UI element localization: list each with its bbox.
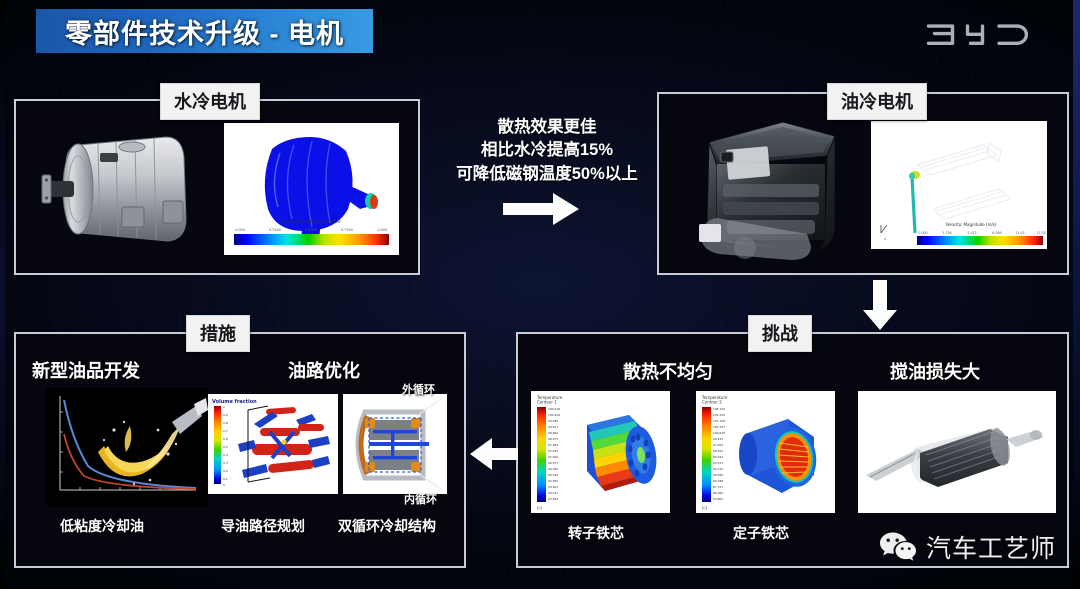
arrow-right-icon xyxy=(503,192,579,226)
svg-text:97.006: 97.006 xyxy=(548,455,558,459)
slide-title-banner: 零部件技术升级 - 电机 xyxy=(36,9,373,53)
wechat-icon xyxy=(879,531,917,563)
slide-root: 零部件技术升级 - 电机 xyxy=(0,0,1080,589)
svg-text:100.429: 100.429 xyxy=(548,413,560,417)
svg-text:87.727: 87.727 xyxy=(713,485,723,489)
center-benefit-message: 散热效果更佳 相比水冷提高15% 可降低磁钢温度50%以上 xyxy=(432,116,662,186)
rotor-oil-churning-figure xyxy=(858,391,1056,513)
challenge-heading-2: 搅油损失大 xyxy=(890,358,980,384)
panel-measures-inner: 新型油品开发 油路优化 xyxy=(16,334,464,566)
water-jacket-cfd-figure: Volume Fraction of Water 0.000 0.2500 0.… xyxy=(224,123,399,255)
chip-oil-cooled-motor: 油冷电机 xyxy=(827,83,927,120)
svg-text:Volume Fraction of Water: Volume Fraction of Water xyxy=(281,219,341,225)
svg-text:95.050: 95.050 xyxy=(548,479,558,483)
svg-text:0.5: 0.5 xyxy=(223,445,228,449)
svg-text:96.028: 96.028 xyxy=(548,467,558,471)
svg-text:106.720: 106.720 xyxy=(713,407,725,411)
svg-text:8.269: 8.269 xyxy=(992,231,1001,235)
svg-text:99.415: 99.415 xyxy=(713,437,723,441)
svg-text:84.805: 84.805 xyxy=(713,497,723,501)
svg-text:0.6: 0.6 xyxy=(223,437,228,441)
watermark-text: 汽车工艺师 xyxy=(926,529,1056,565)
svg-text:96.493: 96.493 xyxy=(713,449,723,453)
svg-text:97.954: 97.954 xyxy=(713,443,723,447)
oil-velocity-cfd-plot: x Velocity: Magnitude (m/s) 0.000 2.756 … xyxy=(871,121,1047,249)
svg-text:11.03: 11.03 xyxy=(1015,231,1024,235)
oil-velocity-cfd-figure: x Velocity: Magnitude (m/s) 0.000 2.756 … xyxy=(871,121,1047,249)
chip-water-cooled-label: 水冷电机 xyxy=(174,92,246,112)
oil-viscosity-curve-figure xyxy=(46,388,208,506)
watermark: 汽车工艺师 xyxy=(879,529,1056,565)
svg-text:Velocity: Magnitude (m/s): Velocity: Magnitude (m/s) xyxy=(946,222,997,227)
stator-core-temperature-figure: Temperature Contour 2 106.720105.259 103… xyxy=(696,391,835,513)
measures-caption-oil: 低粘度冷却油 xyxy=(60,516,144,536)
svg-text:96.517: 96.517 xyxy=(548,461,558,465)
measures-caption-dual: 双循环冷却结构 xyxy=(338,516,436,536)
rotor-core-temperature-plot: Temperature Contour 1 100.918100.429 99.… xyxy=(531,391,670,513)
right-edge-bar xyxy=(1073,0,1080,589)
svg-text:0.7: 0.7 xyxy=(223,429,228,433)
chip-challenge: 挑战 xyxy=(748,315,812,352)
svg-text:90.649: 90.649 xyxy=(713,473,723,477)
svg-text:100.918: 100.918 xyxy=(548,407,560,411)
arrow-down-icon xyxy=(862,280,898,330)
svg-text:0.2500: 0.2500 xyxy=(269,228,281,232)
chip-oil-cooled-label: 油冷电机 xyxy=(841,92,913,112)
measures-heading-2: 油路优化 xyxy=(288,357,360,383)
svg-text:Contour 2: Contour 2 xyxy=(702,400,722,405)
svg-text:86.266: 86.266 xyxy=(713,491,723,495)
panel-measures: 新型油品开发 油路优化 xyxy=(14,332,466,568)
svg-text:0.3: 0.3 xyxy=(223,461,228,465)
dual-circuit-cooling-figure xyxy=(343,394,447,494)
water-jacket-cfd-plot: Volume Fraction of Water 0.000 0.2500 0.… xyxy=(224,123,399,255)
svg-text:98.962: 98.962 xyxy=(548,431,558,435)
water-cooled-motor-photo xyxy=(36,123,206,255)
measures-heading-1: 新型油品开发 xyxy=(32,357,140,383)
svg-text:[C]: [C] xyxy=(537,506,543,510)
oil-cooled-edrive-photo xyxy=(687,108,852,263)
chip-measures-label: 措施 xyxy=(200,324,236,344)
svg-text:x: x xyxy=(884,237,886,241)
svg-text:95.032: 95.032 xyxy=(713,455,723,459)
panel-water-cooled-inner: Volume Fraction of Water 0.000 0.2500 0.… xyxy=(16,101,418,273)
chip-measures: 措施 xyxy=(186,315,250,352)
svg-text:0.2: 0.2 xyxy=(223,469,228,473)
oil-viscosity-curve-chart xyxy=(46,388,208,506)
byd-logo xyxy=(924,20,1044,57)
svg-text:105.259: 105.259 xyxy=(713,413,725,417)
rotor-oil-churning-photo xyxy=(858,391,1056,513)
dual-circuit-cooling-diagram xyxy=(343,394,447,494)
svg-text:89.188: 89.188 xyxy=(713,479,723,483)
svg-text:103.798: 103.798 xyxy=(713,419,725,423)
svg-text:0.9: 0.9 xyxy=(223,413,228,417)
svg-text:98.473: 98.473 xyxy=(548,437,558,441)
svg-text:0.8: 0.8 xyxy=(223,421,228,425)
svg-text:2.756: 2.756 xyxy=(942,231,951,235)
svg-text:13.78: 13.78 xyxy=(1036,231,1045,235)
svg-text:0.5000: 0.5000 xyxy=(305,228,317,232)
svg-text:0.000: 0.000 xyxy=(235,228,245,232)
svg-text:[C]: [C] xyxy=(702,506,708,510)
benefit-line-3: 可降低磁钢温度50%以上 xyxy=(432,163,662,186)
oil-path-cfd-figure: Volume fraction 10.90.8 0.70.60.5 0.40.3… xyxy=(208,394,338,494)
svg-text:95.539: 95.539 xyxy=(548,473,558,477)
svg-text:99.940: 99.940 xyxy=(548,419,558,423)
svg-text:102.337: 102.337 xyxy=(713,425,725,429)
byd-logo-icon xyxy=(924,20,1044,50)
left-edge-bar xyxy=(0,0,5,589)
chip-challenge-label: 挑战 xyxy=(762,324,798,344)
svg-text:0: 0 xyxy=(223,483,225,487)
svg-text:94.072: 94.072 xyxy=(548,491,558,495)
measures-caption-path: 导油路径规划 xyxy=(221,516,305,536)
page-title: 零部件技术升级 - 电机 xyxy=(65,12,344,51)
svg-text:0.7500: 0.7500 xyxy=(341,228,353,232)
oil-path-cfd-plot: Volume fraction 10.90.8 0.70.60.5 0.40.3… xyxy=(208,394,338,494)
svg-text:92.110: 92.110 xyxy=(713,467,723,471)
annotation-outer-circuit: 外循环 xyxy=(402,381,435,397)
svg-text:100.876: 100.876 xyxy=(713,431,725,435)
svg-text:0.1: 0.1 xyxy=(223,477,228,481)
stator-core-temperature-plot: Temperature Contour 2 106.720105.259 103… xyxy=(696,391,835,513)
svg-text:94.561: 94.561 xyxy=(548,485,558,489)
svg-text:1.000: 1.000 xyxy=(377,228,387,232)
arrow-left-icon xyxy=(470,437,518,471)
chip-water-cooled-motor: 水冷电机 xyxy=(160,83,260,120)
challenge-caption-stator: 定子铁芯 xyxy=(733,523,789,543)
svg-text:97.495: 97.495 xyxy=(548,449,558,453)
panel-water-cooled-motor: Volume Fraction of Water 0.000 0.2500 0.… xyxy=(14,99,420,275)
svg-text:Volume fraction: Volume fraction xyxy=(212,399,257,405)
svg-text:5.513: 5.513 xyxy=(967,231,976,235)
annotation-inner-circuit: 内循环 xyxy=(404,491,437,507)
challenge-heading-1: 散热不均匀 xyxy=(623,358,713,384)
svg-text:Contour 1: Contour 1 xyxy=(537,400,557,405)
rotor-core-temperature-figure: Temperature Contour 1 100.918100.429 99.… xyxy=(531,391,670,513)
svg-text:0.4: 0.4 xyxy=(223,453,228,457)
challenge-caption-rotor: 转子铁芯 xyxy=(568,523,624,543)
svg-text:1: 1 xyxy=(223,405,225,409)
svg-text:93.583: 93.583 xyxy=(548,497,558,501)
benefit-line-1: 散热效果更佳 xyxy=(432,116,662,139)
panel-oil-cooled-inner: x Velocity: Magnitude (m/s) 0.000 2.756 … xyxy=(659,94,1067,273)
svg-text:0.000: 0.000 xyxy=(918,231,927,235)
svg-text:97.984: 97.984 xyxy=(548,443,558,447)
svg-text:93.571: 93.571 xyxy=(713,461,723,465)
svg-text:99.451: 99.451 xyxy=(548,425,558,429)
benefit-line-2: 相比水冷提高15% xyxy=(432,139,662,162)
